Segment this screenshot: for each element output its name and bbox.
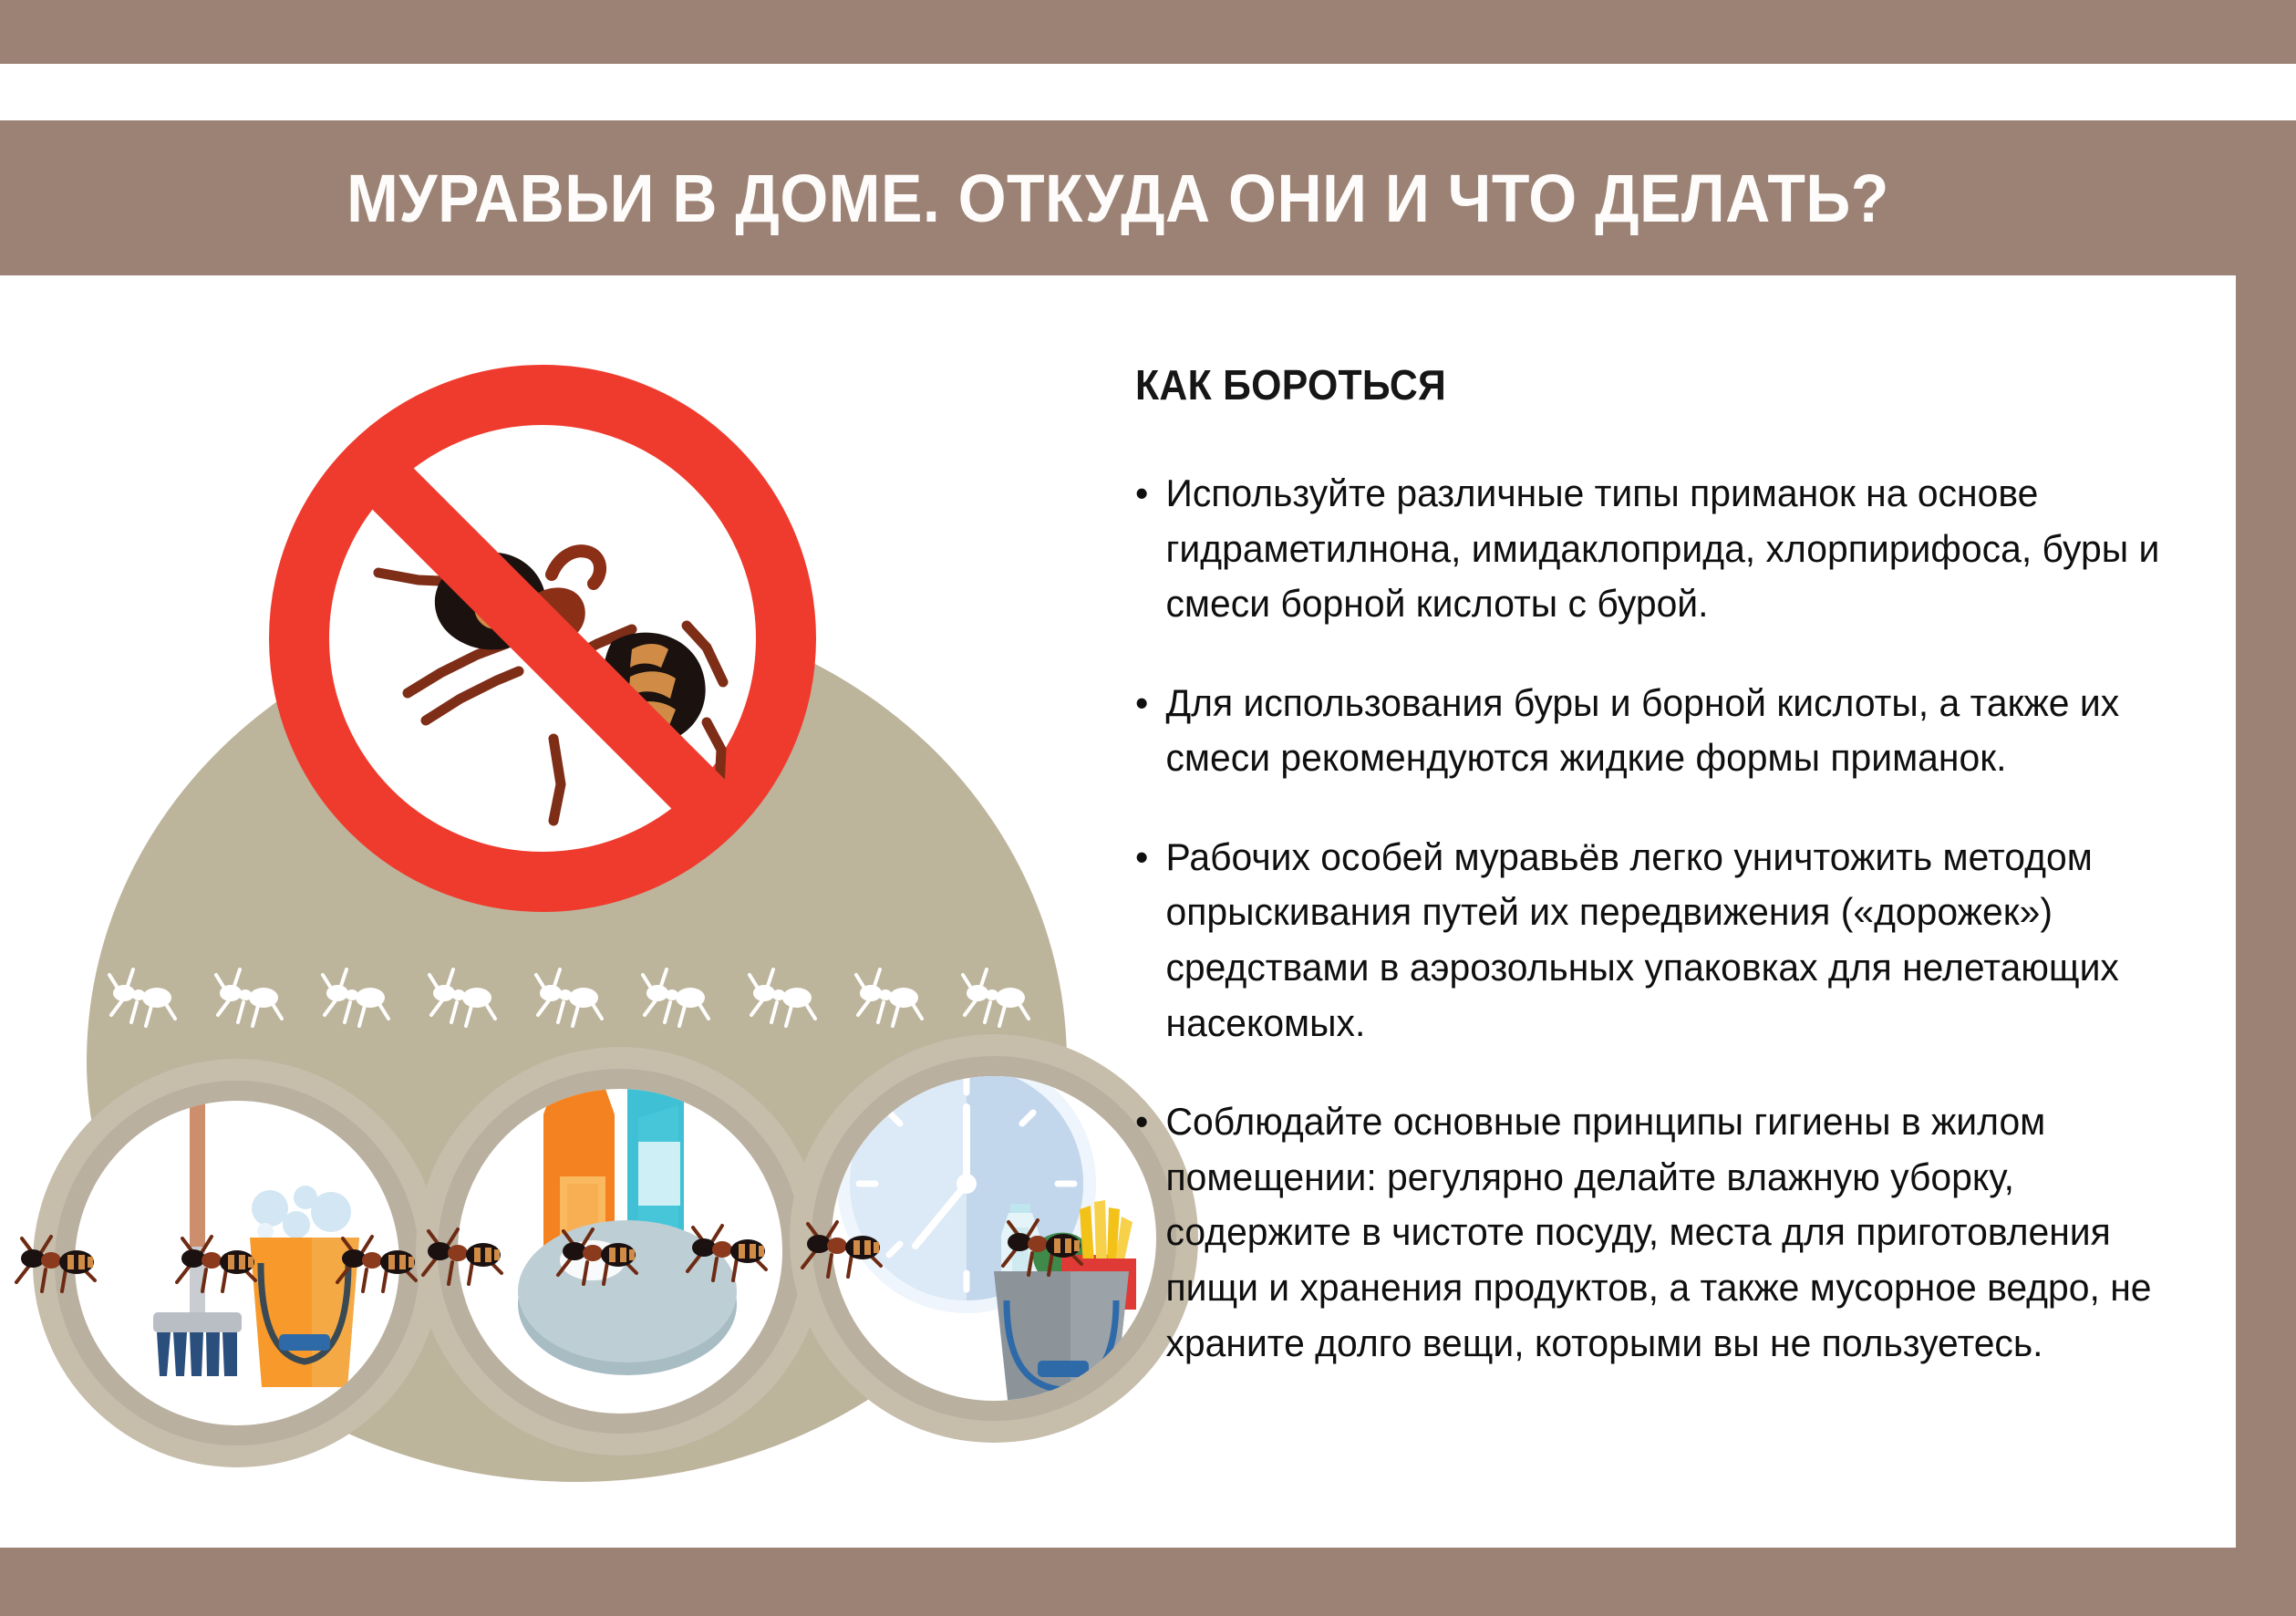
- right-band: [2236, 275, 2296, 1548]
- mop-head-icon: [153, 1312, 242, 1332]
- infographic-page: МУРАВЬИ В ДОМЕ. ОТКУДА ОНИ И ЧТО ДЕЛАТЬ?: [0, 0, 2296, 1616]
- marching-ants-silhouette-icon: [740, 962, 819, 1035]
- bottom-band: [0, 1548, 2296, 1616]
- advice-text: Соблюдайте основные принципы гигиены в ж…: [1165, 1094, 2208, 1371]
- no-ants-prohibition-icon: [269, 365, 816, 912]
- illustration-panel: [0, 283, 1108, 1541]
- walking-ant-icon: [5, 1229, 108, 1297]
- marching-ants-silhouette-icon: [420, 962, 499, 1035]
- advice-bullet-4: • Соблюдайте основные принципы гигиены в…: [1135, 1094, 2208, 1371]
- bullet-marker: •: [1135, 830, 1165, 1051]
- marching-ants-silhouette-icon: [314, 962, 392, 1035]
- advice-text: Используйте различные типы приманок на о…: [1165, 466, 2208, 632]
- marching-ants-silhouette-icon: [100, 962, 179, 1035]
- marching-ants-silhouette-icon: [527, 962, 605, 1035]
- section-heading: КАК БОРОТЬСЯ: [1135, 360, 2148, 409]
- marching-ants-silhouette-icon: [634, 962, 712, 1035]
- white-stripe: [0, 64, 2296, 120]
- marching-ants-silhouette-icon: [954, 962, 1032, 1035]
- bullet-marker: •: [1135, 676, 1165, 786]
- walking-ant-icon: [412, 1222, 514, 1290]
- advice-text: Рабочих особей муравьёв легко уничтожить…: [1165, 830, 2208, 1051]
- walking-ant-icon: [166, 1229, 268, 1297]
- advice-text: Для использования буры и борной кислоты,…: [1165, 676, 2208, 786]
- advice-bullet-2: • Для использования буры и борной кислот…: [1135, 676, 2208, 786]
- walking-ant-icon: [992, 1213, 1094, 1280]
- mop-bristles-icon: [157, 1332, 237, 1376]
- marching-ants-silhouette-icon: [847, 962, 926, 1035]
- advice-bullet-1: • Используйте различные типы приманок на…: [1135, 466, 2208, 632]
- advice-panel: КАК БОРОТЬСЯ • Используйте различные тип…: [1135, 360, 2225, 1414]
- walking-ant-icon: [677, 1218, 779, 1286]
- marching-ants-silhouette-icon: [207, 962, 285, 1035]
- bullet-marker: •: [1135, 466, 1165, 632]
- walking-ant-icon: [547, 1222, 649, 1290]
- marching-ants-row: [100, 962, 1058, 1035]
- advice-bullet-3: • Рабочих особей муравьёв легко уничтожи…: [1135, 830, 2208, 1051]
- walking-ant-icon: [791, 1215, 894, 1282]
- page-title: МУРАВЬИ В ДОМЕ. ОТКУДА ОНИ И ЧТО ДЕЛАТЬ?: [89, 128, 2146, 269]
- top-band: [0, 0, 2296, 64]
- bullet-marker: •: [1135, 1094, 1165, 1371]
